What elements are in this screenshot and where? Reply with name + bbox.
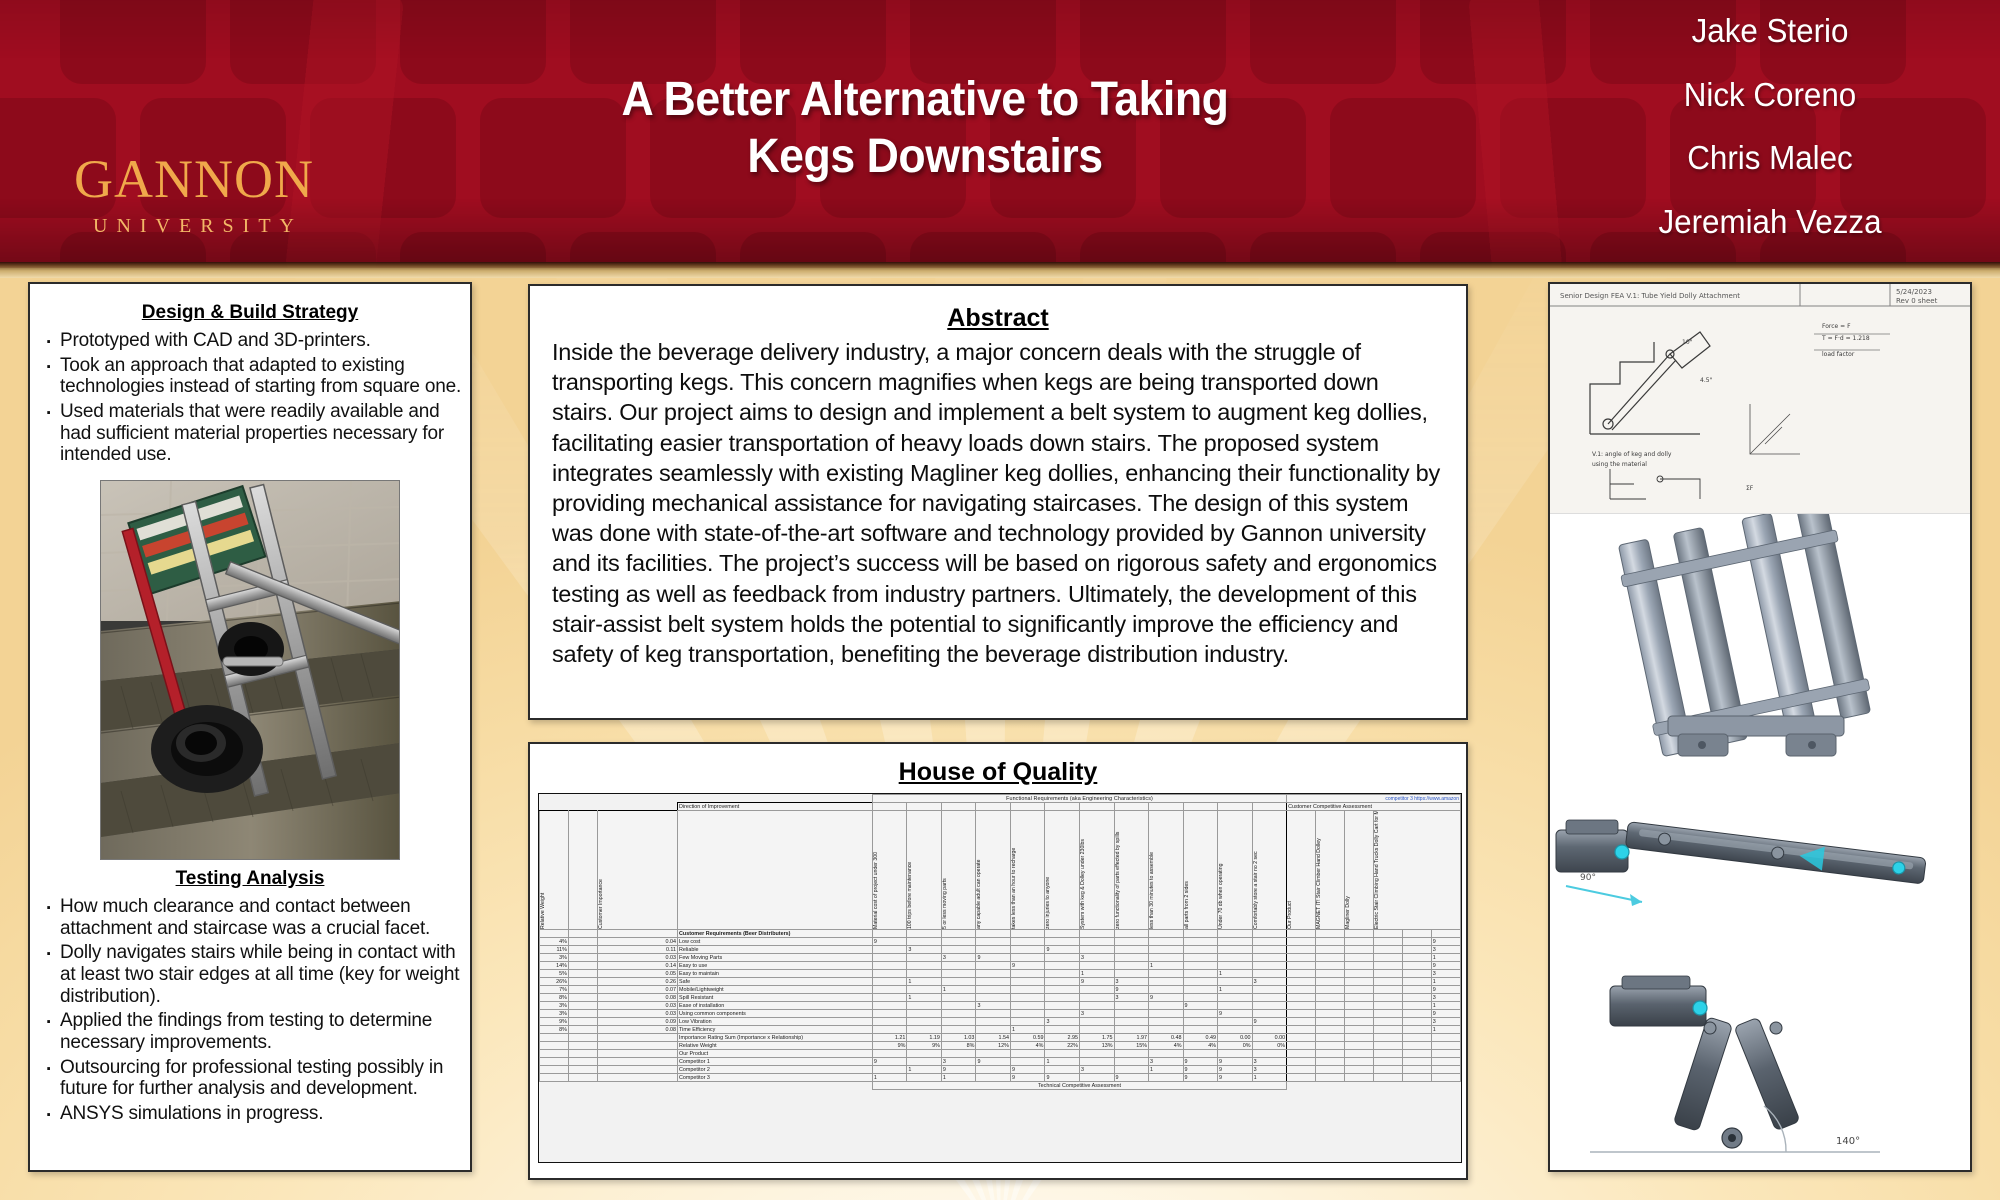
competitor-cell bbox=[1149, 1074, 1184, 1082]
summary-cell bbox=[1287, 1034, 1316, 1042]
hand-sketch-design-notes: Senior Design FEA V.1: Tube Yield Dolly … bbox=[1550, 284, 1970, 514]
author-name: Jake Sterio bbox=[1552, 14, 1989, 49]
summary-cell bbox=[872, 1050, 907, 1058]
cell-relationship bbox=[1114, 938, 1149, 946]
cell-competitive bbox=[1316, 1002, 1345, 1010]
competitor-cell bbox=[1079, 1058, 1114, 1066]
cell-relationship bbox=[907, 1002, 942, 1010]
qfd-table[interactable]: Functional Requirements (aka Engineering… bbox=[539, 794, 1461, 1090]
cc-header: MAGNET IT! Stair Climber Hand Dolley bbox=[1317, 811, 1322, 929]
list-item: Dolly navigates stairs while being in co… bbox=[38, 942, 462, 1007]
cell-competitive bbox=[1287, 986, 1316, 994]
summary-cell: 0.49 bbox=[1183, 1034, 1218, 1042]
customer-requirements-label: Customer Requirements (Beer Distributers… bbox=[678, 930, 873, 938]
col-relative-weight-label: Relative Weight bbox=[541, 811, 546, 929]
cell-relationship bbox=[941, 962, 976, 970]
cell-requirement-label: Ease of installation bbox=[678, 1002, 873, 1010]
cell-spacer bbox=[568, 954, 597, 962]
band-customer-competitive-assessment: Customer Competitive Assessment bbox=[1287, 803, 1461, 811]
table-row: 3%0.03Ease of installation391 bbox=[540, 1002, 1461, 1010]
competitor-cell bbox=[1344, 1058, 1373, 1066]
cell-competitive bbox=[1287, 946, 1316, 954]
cell-relationship bbox=[1252, 986, 1287, 994]
cell-relationship bbox=[941, 1026, 976, 1034]
cell-importance: 0.08 bbox=[597, 994, 677, 1002]
summary-cell bbox=[1218, 1050, 1253, 1058]
cell-relationship bbox=[976, 994, 1011, 1002]
cad-render-folded-linkage: 140° bbox=[1550, 966, 1970, 1166]
summary-cell: 4% bbox=[1183, 1042, 1218, 1050]
cell-relationship bbox=[1114, 946, 1149, 954]
summary-cell: 8% bbox=[941, 1042, 976, 1050]
col-customer-importance-label: Customer Importance bbox=[599, 811, 604, 929]
summary-cell bbox=[1149, 1050, 1184, 1058]
band-functional-requirements: Functional Requirements (aka Engineering… bbox=[872, 795, 1286, 803]
table-row: 5%0.05Easy to maintain113 bbox=[540, 970, 1461, 978]
cell-competitive bbox=[1373, 1002, 1402, 1010]
cell-competitive bbox=[1402, 962, 1431, 970]
cell-relationship: 3 bbox=[1079, 954, 1114, 962]
competitor-cell: 1 bbox=[1149, 1066, 1184, 1074]
cell-spacer bbox=[568, 962, 597, 970]
summary-cell: 0.00 bbox=[1218, 1034, 1253, 1042]
table-row: 7%0.07Mobile/Lightweight1919 bbox=[540, 986, 1461, 994]
cell-relationship bbox=[1114, 1026, 1149, 1034]
cell-competitive bbox=[1316, 938, 1345, 946]
cell-relationship bbox=[1045, 1010, 1080, 1018]
competitor-cell: 9 bbox=[941, 1066, 976, 1074]
cell-relationship bbox=[1045, 938, 1080, 946]
cell-competitive bbox=[1287, 970, 1316, 978]
abstract-panel: Abstract Inside the beverage delivery in… bbox=[528, 284, 1468, 720]
cell-competitive bbox=[1344, 954, 1373, 962]
cell-relationship bbox=[1149, 946, 1184, 954]
ec-header: takes less than an hour to recharge bbox=[1012, 811, 1017, 929]
cell-relationship bbox=[976, 962, 1011, 970]
cell-competitive: 1 bbox=[1431, 978, 1460, 986]
list-item: Outsourcing for professional testing pos… bbox=[38, 1057, 462, 1100]
cell-requirement-label: Low Vibration bbox=[678, 1018, 873, 1026]
cell-relationship: 1 bbox=[1149, 962, 1184, 970]
table-row: 11%0.11Reliable393 bbox=[540, 946, 1461, 954]
cell-relationship: 3 bbox=[1045, 1018, 1080, 1026]
cell-competitive: 9 bbox=[1431, 962, 1460, 970]
competitor-cell bbox=[976, 1074, 1011, 1082]
competitor-cell bbox=[1045, 1066, 1080, 1074]
cell-competitive bbox=[1344, 1026, 1373, 1034]
summary-cell: 4% bbox=[1010, 1042, 1045, 1050]
cell-relationship: 3 bbox=[941, 954, 976, 962]
cell-competitive bbox=[1287, 962, 1316, 970]
cell-relative-weight: 8% bbox=[540, 1026, 569, 1034]
cell-relationship: 9 bbox=[1010, 962, 1045, 970]
summary-row-label: Importance Rating Sum (Importance x Rela… bbox=[678, 1034, 873, 1042]
cell-relationship bbox=[941, 1002, 976, 1010]
author-name: Chris Malec bbox=[1552, 141, 1989, 176]
cell-spacer bbox=[568, 978, 597, 986]
summary-cell bbox=[1373, 1042, 1402, 1050]
list-item: Used materials that were readily availab… bbox=[38, 401, 462, 466]
summary-cell bbox=[1402, 1034, 1431, 1042]
qfd-summary-rows: Importance Rating Sum (Importance x Rela… bbox=[540, 1034, 1461, 1082]
cell-relationship: 3 bbox=[1114, 978, 1149, 986]
svg-text:Senior Design FEA V.1: Tub: Senior Design FEA V.1: Tube Yield Dolly … bbox=[1560, 292, 1740, 300]
competitor-cell: 3 bbox=[941, 1058, 976, 1066]
competitor-cell bbox=[1373, 1058, 1402, 1066]
poster-title-line-2: Kegs Downstairs bbox=[465, 129, 1386, 186]
design-build-strategy-heading: Design & Build Strategy bbox=[38, 302, 462, 324]
cell-relationship: 9 bbox=[1183, 1002, 1218, 1010]
cell-relationship bbox=[976, 1018, 1011, 1026]
cell-relationship bbox=[941, 978, 976, 986]
poster-header: GANNON UNIVERSITY A Better Alternative t… bbox=[0, 0, 2000, 268]
cell-requirement-label: Time Efficiency bbox=[678, 1026, 873, 1034]
cell-competitive bbox=[1287, 1018, 1316, 1026]
cell-importance: 0.05 bbox=[597, 970, 677, 978]
cell-importance: 0.07 bbox=[597, 986, 677, 994]
competitor-cell: 9 bbox=[1114, 1074, 1149, 1082]
competitor-cell bbox=[1316, 1074, 1345, 1082]
band-technical-competitive-assessment: Technical Competitive Assessment bbox=[872, 1082, 1286, 1090]
cell-competitive bbox=[1373, 1026, 1402, 1034]
cell-competitive bbox=[1316, 1026, 1345, 1034]
cell-competitive bbox=[1316, 1010, 1345, 1018]
cell-relationship bbox=[1218, 962, 1253, 970]
cell-relationship bbox=[1079, 1026, 1114, 1034]
cell-relationship bbox=[1218, 1018, 1253, 1026]
competitor3-link[interactable]: competitor 3 https://www.amazon bbox=[1385, 796, 1459, 802]
cell-competitive bbox=[1344, 962, 1373, 970]
cell-competitive bbox=[1344, 994, 1373, 1002]
summary-cell bbox=[1373, 1034, 1402, 1042]
cell-competitive bbox=[1373, 978, 1402, 986]
competitor-row: Competitor 311999991 bbox=[540, 1074, 1461, 1082]
cell-relationship bbox=[872, 1002, 907, 1010]
cell-requirement-label: Safe bbox=[678, 978, 873, 986]
cell-relationship bbox=[1149, 970, 1184, 978]
cell-spacer bbox=[568, 986, 597, 994]
qfd-direction-row: Direction of Improvement Customer Compet… bbox=[540, 803, 1461, 811]
competitor-cell: 9 bbox=[1183, 1066, 1218, 1074]
cell-competitive bbox=[1287, 994, 1316, 1002]
list-item: ANSYS simulations in progress. bbox=[38, 1103, 462, 1125]
cell-competitive bbox=[1344, 970, 1373, 978]
cell-relationship bbox=[1183, 986, 1218, 994]
competitor-cell bbox=[907, 1058, 942, 1066]
list-item: Applied the findings from testing to det… bbox=[38, 1010, 462, 1053]
ec-header: Comfortably store a stair no 2 sec bbox=[1254, 811, 1259, 929]
summary-cell: 9% bbox=[872, 1042, 907, 1050]
cell-relative-weight: 14% bbox=[540, 962, 569, 970]
summary-cell bbox=[1344, 1050, 1373, 1058]
competitor-cell: 1 bbox=[941, 1074, 976, 1082]
importance-rating-sum-row: Importance Rating Sum (Importance x Rela… bbox=[540, 1034, 1461, 1042]
abstract-body: Inside the beverage delivery industry, a… bbox=[552, 337, 1444, 669]
cell-relationship: 9 bbox=[1149, 994, 1184, 1002]
competitor-cell bbox=[872, 1066, 907, 1074]
cell-competitive bbox=[1402, 978, 1431, 986]
cell-competitive bbox=[1402, 1002, 1431, 1010]
summary-cell bbox=[1316, 1050, 1345, 1058]
house-of-quality-panel: House of Quality Functional Requirements… bbox=[528, 742, 1468, 1180]
competitor-cell bbox=[1373, 1074, 1402, 1082]
cell-competitive bbox=[1344, 1010, 1373, 1018]
summary-cell bbox=[1402, 1042, 1431, 1050]
cell-relationship bbox=[976, 978, 1011, 986]
cell-relationship bbox=[976, 938, 1011, 946]
ec-header: Under 70 db when operating bbox=[1219, 811, 1224, 929]
competitor-cell bbox=[1010, 1058, 1045, 1066]
cell-competitive: 1 bbox=[1431, 1026, 1460, 1034]
cell-competitive bbox=[1373, 970, 1402, 978]
summary-row-label: Our Product bbox=[678, 1050, 873, 1058]
cell-relationship bbox=[907, 986, 942, 994]
cell-relationship bbox=[1010, 946, 1045, 954]
summary-cell bbox=[1287, 1050, 1316, 1058]
table-row: 14%0.14Easy to use919 bbox=[540, 962, 1461, 970]
competitor-cell: 9 bbox=[1183, 1058, 1218, 1066]
cell-relationship bbox=[976, 970, 1011, 978]
cell-relationship: 3 bbox=[1252, 978, 1287, 986]
cell-relationship bbox=[1114, 954, 1149, 962]
summary-cell: 13% bbox=[1079, 1042, 1114, 1050]
summary-cell: 22% bbox=[1045, 1042, 1080, 1050]
cell-relationship bbox=[976, 1010, 1011, 1018]
summary-cell: 0.48 bbox=[1149, 1034, 1184, 1042]
ec-header: zero injuries to anyone bbox=[1046, 811, 1051, 929]
logo-wordmark: GANNON bbox=[34, 152, 354, 206]
table-row: 8%0.08Spill Resistant1393 bbox=[540, 994, 1461, 1002]
cell-relationship bbox=[1045, 994, 1080, 1002]
cell-competitive bbox=[1344, 1018, 1373, 1026]
qfd-technical-assessment-row: Technical Competitive Assessment bbox=[540, 1082, 1461, 1090]
cell-relative-weight: 26% bbox=[540, 978, 569, 986]
cell-requirement-label: Reliable bbox=[678, 946, 873, 954]
cell-requirement-label: Easy to maintain bbox=[678, 970, 873, 978]
competitor-cell bbox=[1079, 1074, 1114, 1082]
cell-relationship bbox=[1149, 938, 1184, 946]
cell-relationship: 9 bbox=[872, 938, 907, 946]
cell-relationship bbox=[1149, 954, 1184, 962]
cell-relationship bbox=[941, 1018, 976, 1026]
cell-spacer bbox=[568, 1018, 597, 1026]
cell-relationship bbox=[1045, 986, 1080, 994]
cell-competitive bbox=[1316, 978, 1345, 986]
cell-relative-weight: 4% bbox=[540, 938, 569, 946]
competitor-cell: 1 bbox=[872, 1074, 907, 1082]
cell-relationship bbox=[872, 994, 907, 1002]
svg-text:ΣF: ΣF bbox=[1746, 485, 1754, 492]
cell-competitive bbox=[1316, 946, 1345, 954]
cell-competitive bbox=[1402, 970, 1431, 978]
summary-cell: 2.95 bbox=[1045, 1034, 1080, 1042]
cell-relationship bbox=[1252, 962, 1287, 970]
summary-cell: 12% bbox=[976, 1042, 1011, 1050]
competitor-cell bbox=[907, 1074, 942, 1082]
cell-relationship bbox=[1183, 1010, 1218, 1018]
cell-requirement-label: Easy to use bbox=[678, 962, 873, 970]
summary-cell: 1.19 bbox=[907, 1034, 942, 1042]
cell-relationship bbox=[1218, 978, 1253, 986]
cell-spacer bbox=[568, 1002, 597, 1010]
summary-cell bbox=[1402, 1050, 1431, 1058]
cell-relationship: 1 bbox=[1079, 970, 1114, 978]
cell-relationship bbox=[1149, 1018, 1184, 1026]
cell-relative-weight: 3% bbox=[540, 1002, 569, 1010]
summary-cell bbox=[1431, 1050, 1460, 1058]
cell-spacer bbox=[568, 994, 597, 1002]
cell-competitive bbox=[1402, 994, 1431, 1002]
cell-spacer bbox=[568, 938, 597, 946]
competitor-cell: 1 bbox=[907, 1066, 942, 1074]
cell-importance: 0.08 bbox=[597, 1026, 677, 1034]
relative-weight-row: Relative Weight9%9%8%12%4%22%13%15%4%4%0… bbox=[540, 1042, 1461, 1050]
cell-relationship bbox=[1183, 1026, 1218, 1034]
cell-relative-weight: 9% bbox=[540, 1018, 569, 1026]
right-image-panel: Senior Design FEA V.1: Tube Yield Dolly … bbox=[1548, 282, 1972, 1172]
cell-relationship bbox=[1045, 978, 1080, 986]
sketch-illustration: Senior Design FEA V.1: Tube Yield Dolly … bbox=[1550, 284, 1970, 514]
competitor-cell: 9 bbox=[1045, 1074, 1080, 1082]
summary-cell: 1.21 bbox=[872, 1034, 907, 1042]
cell-relationship bbox=[1079, 962, 1114, 970]
cell-competitive bbox=[1373, 954, 1402, 962]
cell-relationship bbox=[1114, 962, 1149, 970]
cell-relationship bbox=[1183, 1018, 1218, 1026]
competitor-cell: 3 bbox=[1149, 1058, 1184, 1066]
cell-competitive bbox=[1402, 1026, 1431, 1034]
summary-cell: 4% bbox=[1149, 1042, 1184, 1050]
competitor-cell bbox=[1114, 1058, 1149, 1066]
summary-cell bbox=[1344, 1042, 1373, 1050]
cell-relationship bbox=[1010, 994, 1045, 1002]
cad-render-linkage-arm: 90° bbox=[1550, 776, 1970, 966]
cell-competitive bbox=[1402, 954, 1431, 962]
qfd-matrix[interactable]: Functional Requirements (aka Engineering… bbox=[538, 793, 1462, 1163]
cell-competitive bbox=[1344, 946, 1373, 954]
angle-annotation: 140° bbox=[1836, 1136, 1860, 1147]
summary-cell bbox=[1010, 1050, 1045, 1058]
cell-competitive bbox=[1316, 1018, 1345, 1026]
cell-spacer bbox=[568, 1010, 597, 1018]
cell-relationship bbox=[941, 946, 976, 954]
cell-spacer bbox=[568, 1026, 597, 1034]
competitor-cell bbox=[976, 1066, 1011, 1074]
competitor-cell bbox=[1287, 1066, 1316, 1074]
cell-relationship bbox=[1079, 986, 1114, 994]
summary-cell: 9% bbox=[907, 1042, 942, 1050]
summary-cell bbox=[941, 1050, 976, 1058]
cell-importance: 0.03 bbox=[597, 1002, 677, 1010]
cell-relationship bbox=[872, 1026, 907, 1034]
cell-competitive bbox=[1402, 946, 1431, 954]
linkage-arm-illustration: 90° bbox=[1550, 776, 1970, 966]
table-row: 3%0.03Few Moving Parts3931 bbox=[540, 954, 1461, 962]
cell-relationship bbox=[872, 946, 907, 954]
cell-competitive bbox=[1287, 978, 1316, 986]
cell-relationship: 1 bbox=[1010, 1026, 1045, 1034]
cell-competitive: 3 bbox=[1431, 970, 1460, 978]
cell-relative-weight: 7% bbox=[540, 986, 569, 994]
author-name: Jeremiah Vezza bbox=[1552, 205, 1989, 240]
cell-relationship bbox=[1149, 986, 1184, 994]
summary-cell bbox=[1183, 1050, 1218, 1058]
ec-header: 100 trips before maintenance bbox=[908, 811, 913, 929]
summary-cell bbox=[1114, 1050, 1149, 1058]
cell-relationship: 1 bbox=[1218, 970, 1253, 978]
cell-competitive: 9 bbox=[1431, 938, 1460, 946]
cell-competitive bbox=[1373, 962, 1402, 970]
cell-relationship bbox=[941, 970, 976, 978]
cell-relationship bbox=[872, 978, 907, 986]
poster-title: A Better Alternative to Taking Kegs Down… bbox=[465, 72, 1386, 185]
cell-relationship bbox=[1010, 954, 1045, 962]
svg-text:V.1: angle of keg and dolly: V.1: angle of keg and dolly bbox=[1592, 451, 1672, 458]
summary-cell bbox=[1079, 1050, 1114, 1058]
cell-relationship bbox=[1010, 978, 1045, 986]
cell-competitive: 1 bbox=[1431, 1002, 1460, 1010]
cell-relationship bbox=[1252, 970, 1287, 978]
cell-relationship: 9 bbox=[1218, 1010, 1253, 1018]
cell-relationship bbox=[872, 954, 907, 962]
ec-header: zero functionality of parts effected by … bbox=[1116, 811, 1121, 929]
cell-relationship: 9 bbox=[1252, 1018, 1287, 1026]
poster-root: GANNON UNIVERSITY A Better Alternative t… bbox=[0, 0, 2000, 1200]
cell-competitive bbox=[1402, 938, 1431, 946]
cell-relationship bbox=[907, 1026, 942, 1034]
ec-header: System with keg & Dolley under 230lbs bbox=[1081, 811, 1086, 929]
cell-competitive bbox=[1402, 986, 1431, 994]
cell-competitive: 9 bbox=[1431, 986, 1460, 994]
cell-relationship: 1 bbox=[907, 994, 942, 1002]
qfd-cr-title-row: Customer Requirements (Beer Distributers… bbox=[540, 930, 1461, 938]
qfd-band-row: Functional Requirements (aka Engineering… bbox=[540, 795, 1461, 803]
cell-relationship bbox=[1079, 946, 1114, 954]
cell-relationship bbox=[907, 1018, 942, 1026]
cell-competitive bbox=[1402, 1010, 1431, 1018]
cc-header: Our Product bbox=[1288, 811, 1293, 929]
cell-relationship bbox=[1218, 954, 1253, 962]
cell-competitive bbox=[1316, 954, 1345, 962]
design-build-strategy-list: Prototyped with CAD and 3D-printers. Too… bbox=[38, 330, 462, 466]
cell-relationship bbox=[872, 1010, 907, 1018]
cell-competitive bbox=[1316, 994, 1345, 1002]
competitor-cell bbox=[1344, 1074, 1373, 1082]
competitor-row: Competitor 193913993 bbox=[540, 1058, 1461, 1066]
table-row: 9%0.09Low Vibration393 bbox=[540, 1018, 1461, 1026]
cell-relative-weight: 5% bbox=[540, 970, 569, 978]
cell-relationship bbox=[1079, 994, 1114, 1002]
competitor-cell: 1 bbox=[1045, 1058, 1080, 1066]
svg-text:4.5": 4.5" bbox=[1700, 377, 1713, 384]
cell-relationship bbox=[1218, 1002, 1253, 1010]
cell-relationship bbox=[1183, 994, 1218, 1002]
cell-relationship bbox=[1114, 1018, 1149, 1026]
cell-relationship: 9 bbox=[1079, 978, 1114, 986]
cell-competitive bbox=[1373, 946, 1402, 954]
competitor-cell bbox=[1316, 1058, 1345, 1066]
cell-competitive bbox=[1373, 1010, 1402, 1018]
cell-relationship bbox=[872, 962, 907, 970]
cell-relationship bbox=[1010, 938, 1045, 946]
cell-relationship: 3 bbox=[976, 1002, 1011, 1010]
cell-relationship: 9 bbox=[976, 954, 1011, 962]
cell-competitive: 3 bbox=[1431, 994, 1460, 1002]
cell-competitive bbox=[1316, 970, 1345, 978]
cc-header: Electric Stair Climbing Hand Trucks Doll… bbox=[1375, 811, 1380, 929]
competitor-cell: 9 bbox=[1183, 1074, 1218, 1082]
cell-competitive bbox=[1373, 994, 1402, 1002]
